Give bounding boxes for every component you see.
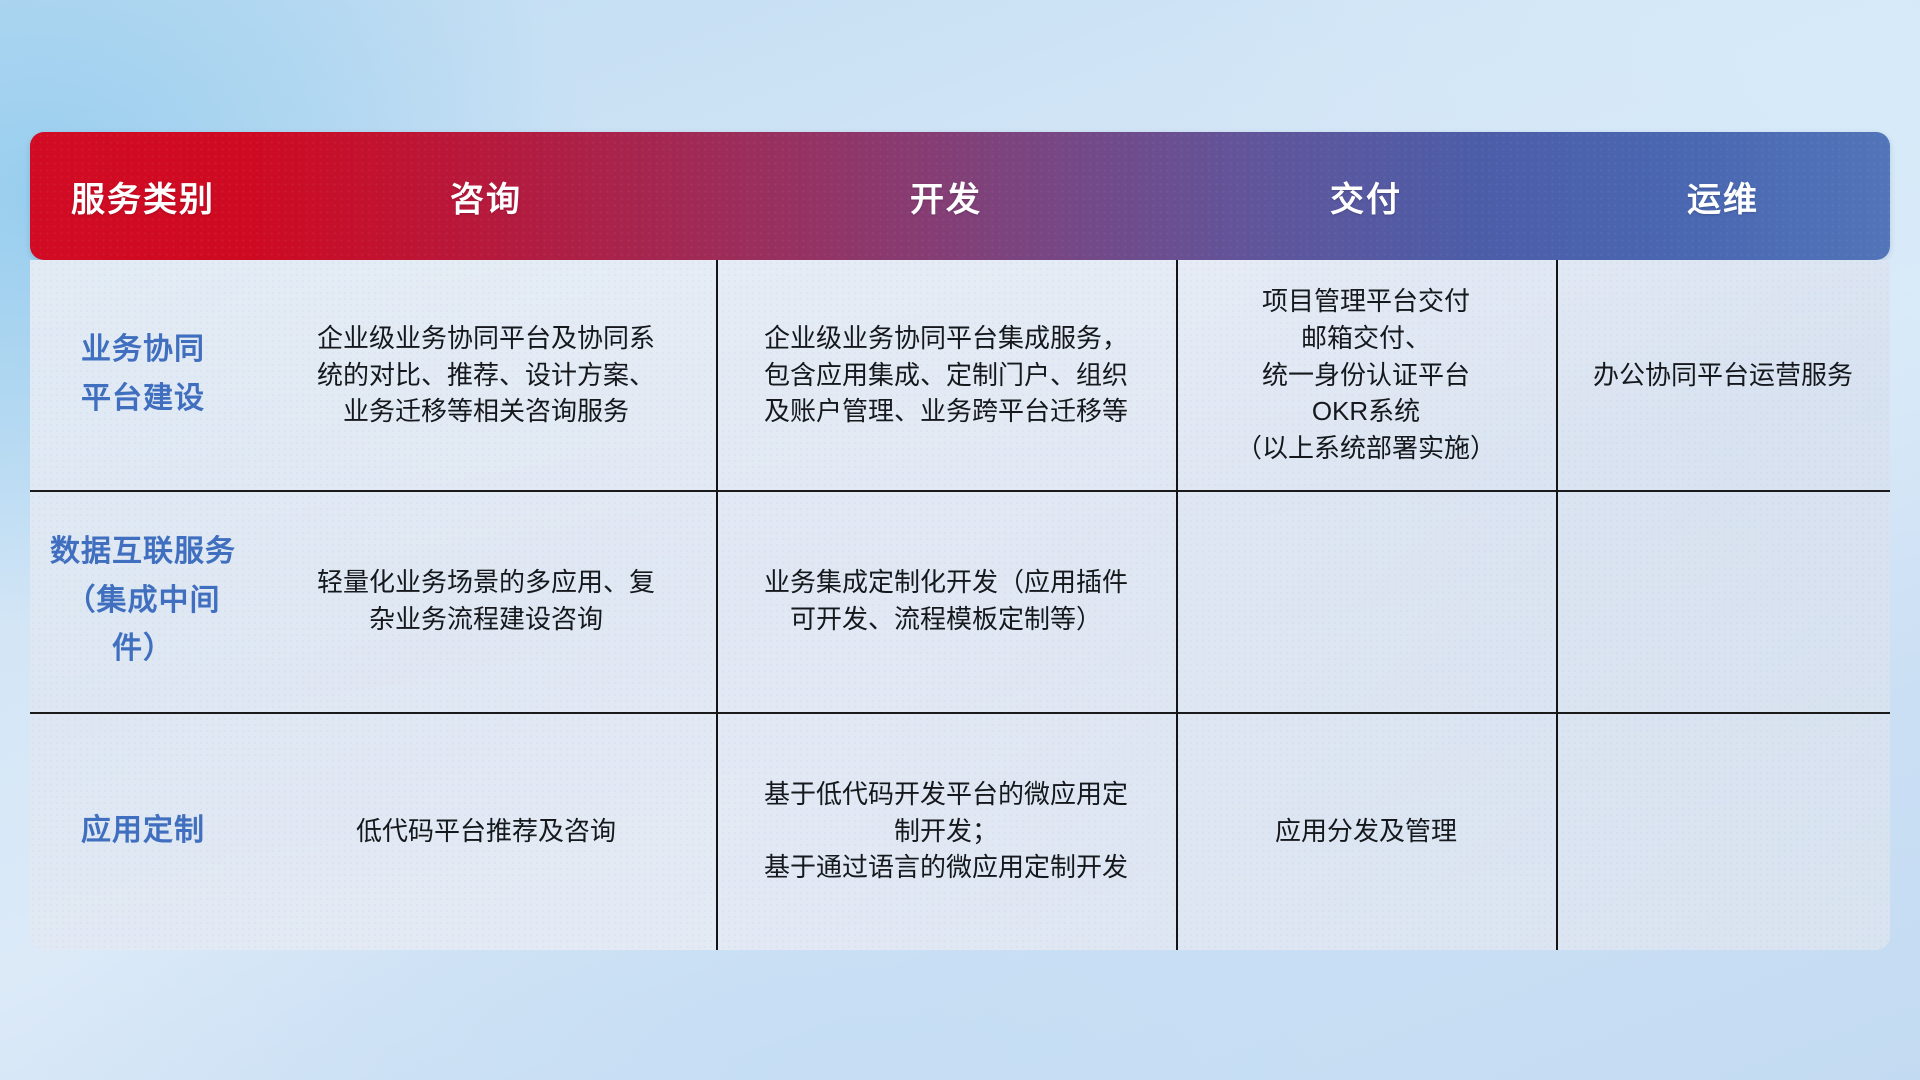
service-matrix-table: 服务类别 咨询 开发 交付 运维 业务协同 平台建设 企业级业务协同平台及协同系… bbox=[30, 132, 1890, 950]
column-header-development: 开发 bbox=[716, 172, 1176, 221]
cell-development: 基于低代码开发平台的微应用定 制开发； 基于通过语言的微应用定制开发 bbox=[716, 770, 1176, 893]
column-header-category: 服务类别 bbox=[30, 172, 256, 221]
cell-development: 业务集成定制化开发（应用插件 可开发、流程模板定制等） bbox=[716, 558, 1176, 644]
column-header-operations: 运维 bbox=[1556, 172, 1890, 221]
cell-consulting: 低代码平台推荐及咨询 bbox=[256, 807, 716, 856]
row-divider-2 bbox=[30, 712, 1890, 714]
cell-operations: 办公协同平台运营服务 bbox=[1556, 351, 1890, 400]
column-header-consulting: 咨询 bbox=[256, 172, 716, 221]
cell-delivery bbox=[1176, 595, 1556, 607]
cell-category: 应用定制 bbox=[30, 801, 256, 862]
cell-development: 企业级业务协同平台集成服务， 包含应用集成、定制门户、组织 及账户管理、业务跨平… bbox=[716, 314, 1176, 437]
column-header-delivery: 交付 bbox=[1176, 172, 1556, 221]
table-row: 业务协同 平台建设 企业级业务协同平台及协同系 统的对比、推荐、设计方案、 业务… bbox=[30, 260, 1890, 490]
cell-delivery: 应用分发及管理 bbox=[1176, 807, 1556, 856]
cell-category: 数据互联服务 （集成中间件） bbox=[30, 522, 256, 680]
table-row: 数据互联服务 （集成中间件） 轻量化业务场景的多应用、复 杂业务流程建设咨询 业… bbox=[30, 490, 1890, 712]
cell-operations bbox=[1556, 825, 1890, 837]
table-row: 应用定制 低代码平台推荐及咨询 基于低代码开发平台的微应用定 制开发； 基于通过… bbox=[30, 712, 1890, 950]
cell-consulting: 企业级业务协同平台及协同系 统的对比、推荐、设计方案、 业务迁移等相关咨询服务 bbox=[256, 314, 716, 437]
column-divider-2 bbox=[1176, 260, 1178, 950]
cell-consulting: 轻量化业务场景的多应用、复 杂业务流程建设咨询 bbox=[256, 558, 716, 644]
column-divider-3 bbox=[1556, 260, 1558, 950]
row-divider-1 bbox=[30, 490, 1890, 492]
cell-category: 业务协同 平台建设 bbox=[30, 320, 256, 429]
cell-delivery: 项目管理平台交付 邮箱交付、 统一身份认证平台 OKR系统 （以上系统部署实施） bbox=[1176, 277, 1556, 474]
table-header-row: 服务类别 咨询 开发 交付 运维 bbox=[30, 132, 1890, 260]
table-body: 业务协同 平台建设 企业级业务协同平台及协同系 统的对比、推荐、设计方案、 业务… bbox=[30, 260, 1890, 950]
slide-canvas: 服务类别 咨询 开发 交付 运维 业务协同 平台建设 企业级业务协同平台及协同系… bbox=[0, 0, 1920, 1080]
cell-operations bbox=[1556, 595, 1890, 607]
column-divider-1 bbox=[716, 260, 718, 950]
